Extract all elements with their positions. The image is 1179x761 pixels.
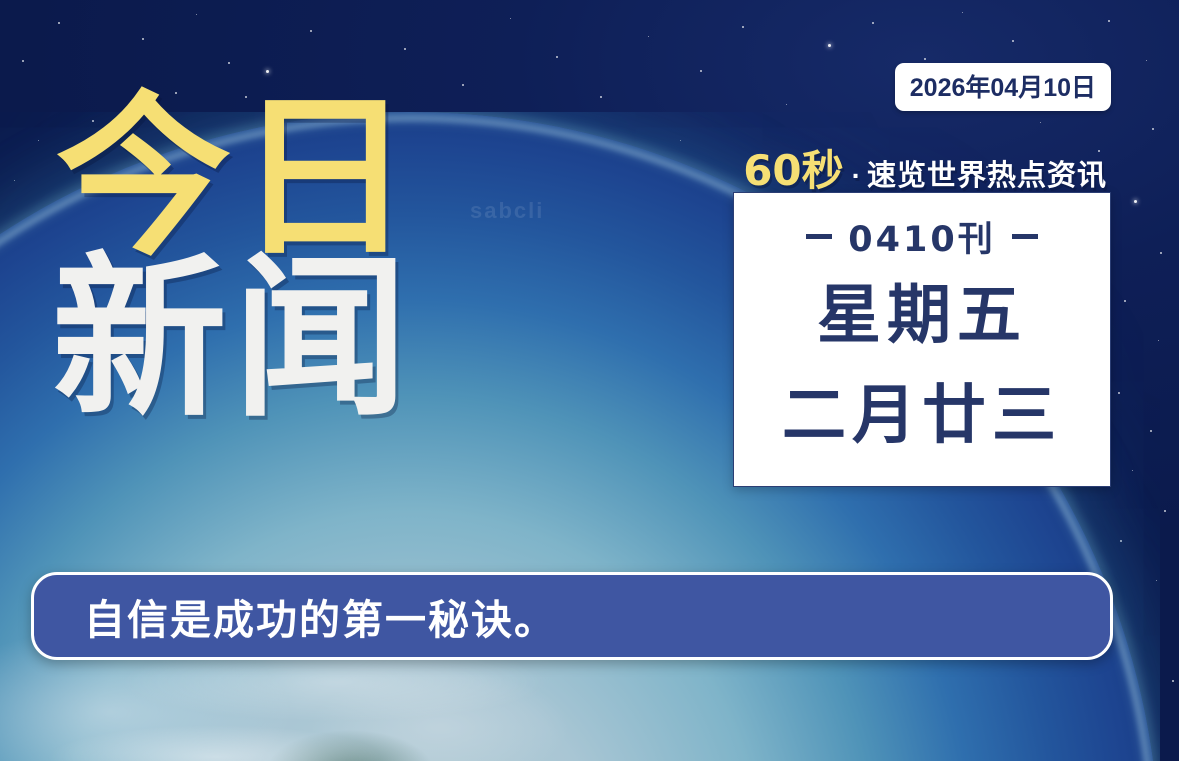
- star-icon: [22, 60, 24, 62]
- star-icon: [924, 58, 926, 60]
- dash-left-icon: [806, 234, 832, 239]
- star-icon: [828, 44, 831, 47]
- page-title-line-2: 新闻: [52, 259, 418, 420]
- date-badge: 2026年04月10日: [895, 63, 1111, 111]
- weekday-label: 星期五: [817, 284, 1027, 348]
- star-icon: [142, 38, 144, 40]
- star-icon: [648, 36, 649, 37]
- star-icon: [58, 22, 60, 24]
- page-title: 今日 新闻: [56, 98, 418, 420]
- star-icon: [1172, 680, 1174, 682]
- watermark-text: sabcli: [470, 198, 544, 224]
- issue-number-row: 0410刊: [806, 211, 1037, 262]
- star-icon: [1146, 60, 1147, 61]
- star-icon: [872, 22, 874, 24]
- star-icon: [228, 62, 230, 64]
- star-icon: [742, 26, 744, 28]
- page-title-line-1: 今日: [56, 98, 418, 259]
- star-icon: [556, 56, 558, 58]
- star-icon: [266, 70, 269, 73]
- star-icon: [600, 96, 602, 98]
- tagline: 60秒 · 速览世界热点资讯: [743, 137, 1107, 198]
- dash-right-icon: [1012, 234, 1038, 239]
- star-icon: [1012, 40, 1014, 42]
- issue-number: 0410刊: [848, 211, 995, 262]
- tagline-highlight: 60秒: [743, 137, 843, 198]
- tagline-text: 速览世界热点资讯: [867, 152, 1107, 194]
- star-icon: [1160, 252, 1162, 254]
- news-poster: sabcli 今日 新闻 2026年04月10日 60秒 · 速览世界热点资讯 …: [0, 0, 1179, 761]
- tagline-separator: ·: [852, 160, 861, 192]
- star-icon: [404, 48, 406, 50]
- star-icon: [1164, 510, 1166, 512]
- star-icon: [196, 14, 197, 15]
- lunar-date-label: 二月廿三: [782, 384, 1062, 448]
- star-icon: [310, 30, 312, 32]
- quote-text: 自信是成功的第一秘诀。: [84, 586, 557, 646]
- quote-bar: 自信是成功的第一秘诀。: [31, 572, 1113, 660]
- star-icon: [462, 84, 464, 86]
- star-icon: [1108, 20, 1110, 22]
- star-icon: [700, 70, 702, 72]
- star-icon: [786, 104, 787, 105]
- date-card: 0410刊 星期五 二月廿三: [733, 192, 1111, 487]
- star-icon: [510, 18, 511, 19]
- star-icon: [962, 12, 963, 13]
